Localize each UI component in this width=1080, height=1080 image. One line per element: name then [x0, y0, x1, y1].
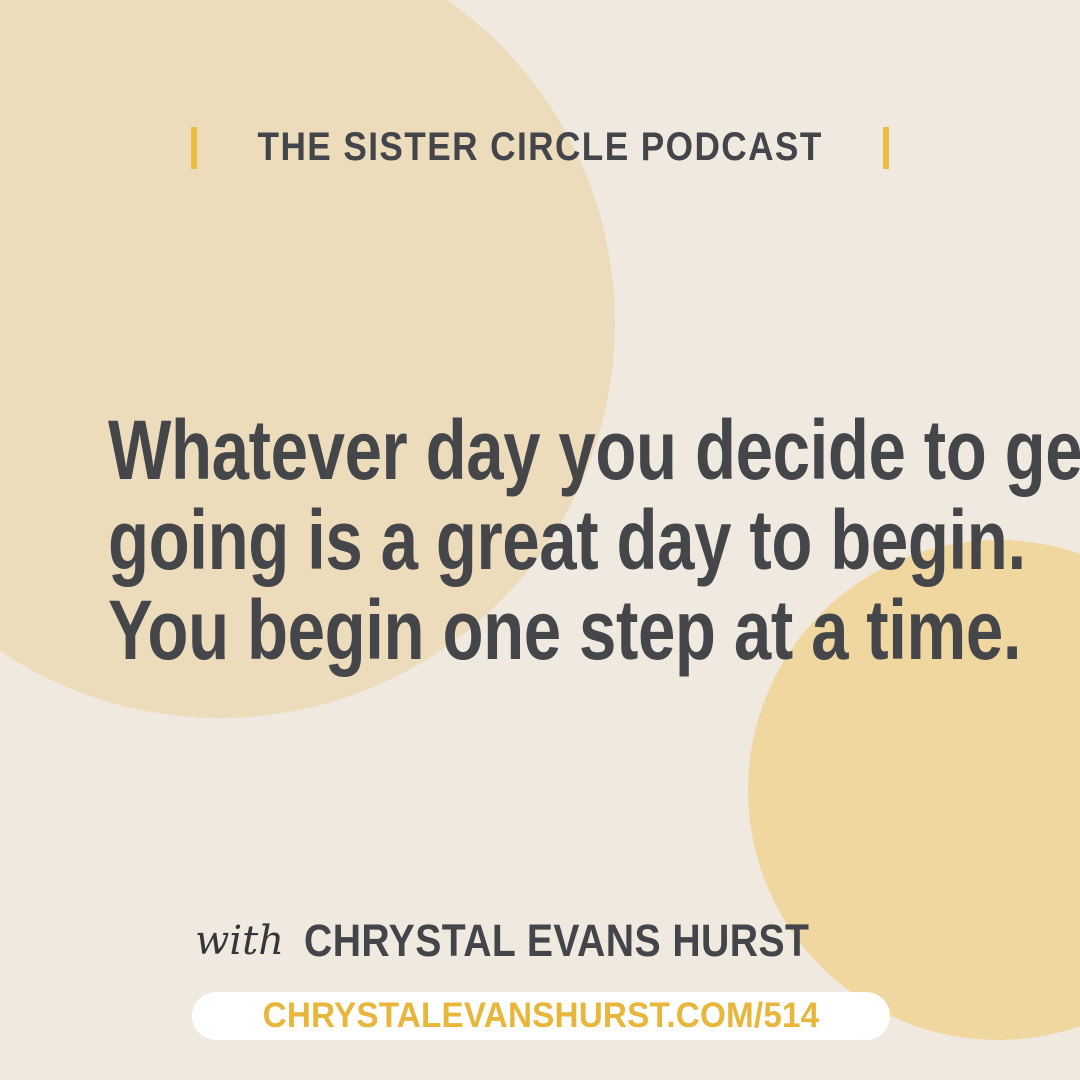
quote-block: Whatever day you decide to get going is … — [0, 405, 1080, 675]
quote-line-2: going is a great day to begin. — [108, 495, 972, 585]
pipe-bar-right-icon — [883, 127, 889, 169]
byline-prefix: with — [195, 918, 284, 964]
podcast-title: THE SISTER CIRCLE PODCAST — [257, 125, 822, 170]
byline: with CHRYSTAL EVANS HURST — [0, 915, 1080, 967]
byline-host-name: CHRYSTAL EVANS HURST — [304, 915, 809, 967]
quote-line-1: Whatever day you decide to get — [108, 405, 972, 495]
pipe-bar-left-icon — [191, 127, 197, 169]
url-pill[interactable]: CHRYSTALEVANSHURST.COM/514 — [192, 992, 890, 1040]
quote-line-3: You begin one step at a time. — [108, 585, 972, 675]
url-text: CHRYSTALEVANSHURST.COM/514 — [263, 996, 820, 1036]
podcast-header: THE SISTER CIRCLE PODCAST — [0, 125, 1080, 170]
podcast-quote-card: THE SISTER CIRCLE PODCAST Whatever day y… — [0, 0, 1080, 1080]
